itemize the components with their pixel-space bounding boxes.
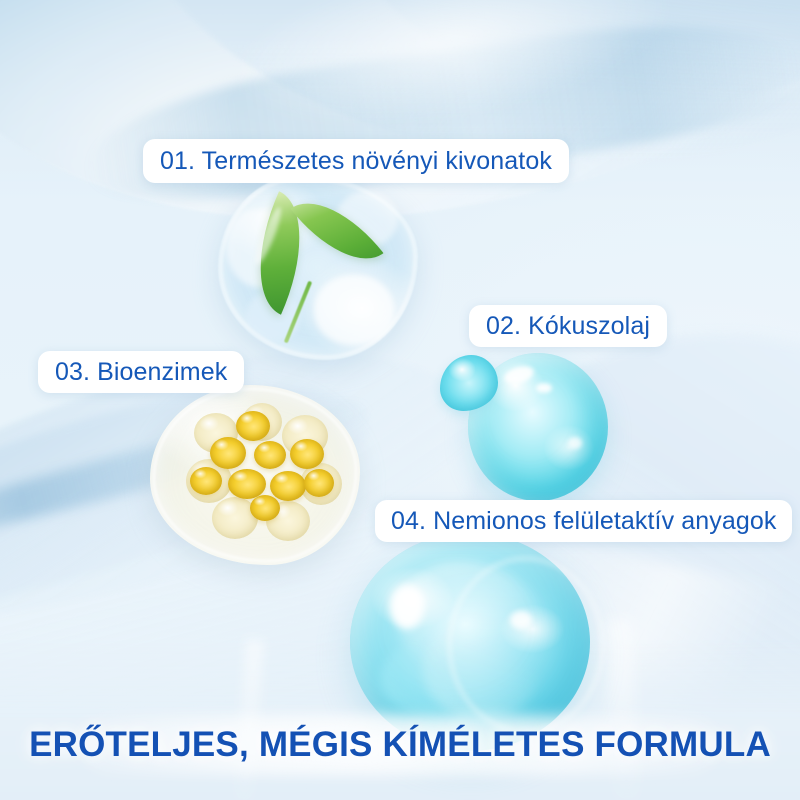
ingredient-label-02: 02. Kókuszolaj bbox=[469, 305, 667, 347]
ingredient-label-04-text: 04. Nemionos felületaktív anyagok bbox=[391, 507, 776, 536]
ingredient-label-03-text: 03. Bioenzimek bbox=[55, 358, 227, 387]
pearl-capsule-icon bbox=[186, 459, 232, 503]
pearl-capsule-icon bbox=[212, 497, 258, 539]
turquoise-droplet-icon bbox=[440, 355, 498, 411]
leaf-stem-icon bbox=[284, 281, 312, 344]
silk-highlight-top-icon bbox=[191, 0, 769, 157]
crystal-gel-body-icon bbox=[218, 175, 418, 360]
pearl-capsule-icon bbox=[282, 415, 328, 457]
cream-gel-body-icon bbox=[150, 385, 360, 565]
crystal-facet-icon bbox=[226, 209, 288, 287]
gel-swirl-icon bbox=[381, 543, 561, 703]
golden-oil-droplet-icon bbox=[304, 469, 334, 497]
sphere-highlight-icon bbox=[502, 363, 535, 387]
headline-text: ERŐTELJES, MÉGIS KÍMÉLETES FORMULA bbox=[29, 725, 771, 765]
silk-fold-edge-left-icon bbox=[0, 388, 376, 561]
sphere-highlight-icon bbox=[510, 611, 532, 629]
sphere-highlight-icon bbox=[390, 585, 424, 629]
golden-oil-droplet-icon bbox=[290, 439, 324, 469]
ingredient-label-01-text: 01. Természetes növényi kivonatok bbox=[160, 147, 552, 176]
pearl-capsule-icon bbox=[300, 463, 342, 505]
golden-oil-droplet-icon bbox=[236, 411, 270, 441]
infographic-canvas: 01. Természetes növényi kivonatok 02. Kó… bbox=[0, 0, 800, 800]
crystal-facet-icon bbox=[336, 191, 398, 247]
pearl-capsule-icon bbox=[194, 413, 238, 453]
ingredient-label-01: 01. Természetes növényi kivonatok bbox=[143, 139, 569, 183]
sphere-highlight-icon bbox=[568, 437, 582, 449]
golden-oil-droplet-icon bbox=[250, 495, 280, 521]
leaf-highlight-icon bbox=[251, 205, 285, 267]
sphere-highlight-icon bbox=[536, 383, 552, 393]
green-leaf-icon bbox=[291, 181, 384, 282]
crystal-facet-icon bbox=[314, 275, 394, 345]
cream-gel-rim-icon bbox=[153, 388, 357, 562]
golden-oil-droplet-icon bbox=[190, 467, 222, 495]
pearl-capsule-icon bbox=[242, 403, 282, 441]
ingredient-label-02-text: 02. Kókuszolaj bbox=[486, 312, 650, 341]
green-leaf-icon bbox=[233, 191, 326, 314]
silk-drape-top-front-icon bbox=[322, 0, 800, 121]
ingredient-visual-coconut-oil bbox=[440, 345, 610, 505]
ingredient-label-04: 04. Nemionos felületaktív anyagok bbox=[375, 500, 792, 542]
golden-oil-droplet-icon bbox=[210, 437, 246, 469]
golden-oil-droplet-icon bbox=[228, 469, 266, 499]
crystal-facet-icon bbox=[246, 293, 300, 341]
ingredient-visual-plant-extract bbox=[218, 175, 418, 360]
ingredient-visual-bioenzymes bbox=[150, 385, 360, 565]
golden-oil-droplet-icon bbox=[270, 471, 306, 501]
ingredient-label-03: 03. Bioenzimek bbox=[38, 351, 244, 393]
headline-banner: ERŐTELJES, MÉGIS KÍMÉLETES FORMULA bbox=[0, 707, 800, 783]
silk-drape-top-back-icon bbox=[0, 0, 800, 261]
silk-fold-edge-top-icon bbox=[75, 2, 800, 221]
golden-oil-droplet-icon bbox=[254, 441, 286, 469]
turquoise-sphere-icon bbox=[468, 353, 608, 501]
pearl-capsule-icon bbox=[266, 501, 310, 541]
crystal-rim-icon bbox=[220, 177, 416, 358]
